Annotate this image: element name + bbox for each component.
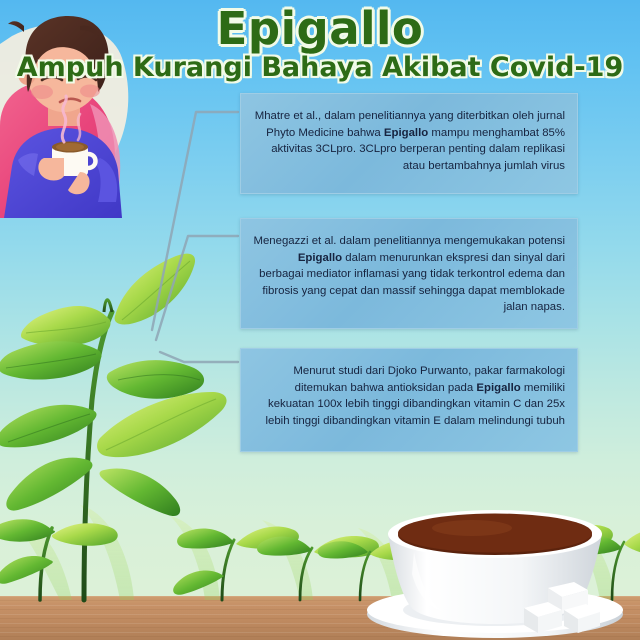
- page-title: Epigallo: [0, 2, 640, 55]
- info-box-2: Menegazzi et al. dalam penelitiannya men…: [240, 218, 578, 329]
- page-subtitle: Ampuh Kurangi Bahaya Akibat Covid-19: [0, 52, 640, 83]
- infographic-poster: Epigallo Ampuh Kurangi Bahaya Akibat Cov…: [0, 0, 640, 640]
- info-box-3: Menurut studi dari Djoko Purwanto, pakar…: [240, 348, 578, 452]
- info-box-1: Mhatre et al., dalam penelitiannya yang …: [240, 93, 578, 194]
- poster-header: Epigallo Ampuh Kurangi Bahaya Akibat Cov…: [0, 0, 640, 92]
- info-box-3-text: Menurut studi dari Djoko Purwanto, pakar…: [253, 363, 565, 429]
- info-box-1-text: Mhatre et al., dalam penelitiannya yang …: [253, 108, 565, 174]
- info-box-2-text: Menegazzi et al. dalam penelitiannya men…: [253, 233, 565, 316]
